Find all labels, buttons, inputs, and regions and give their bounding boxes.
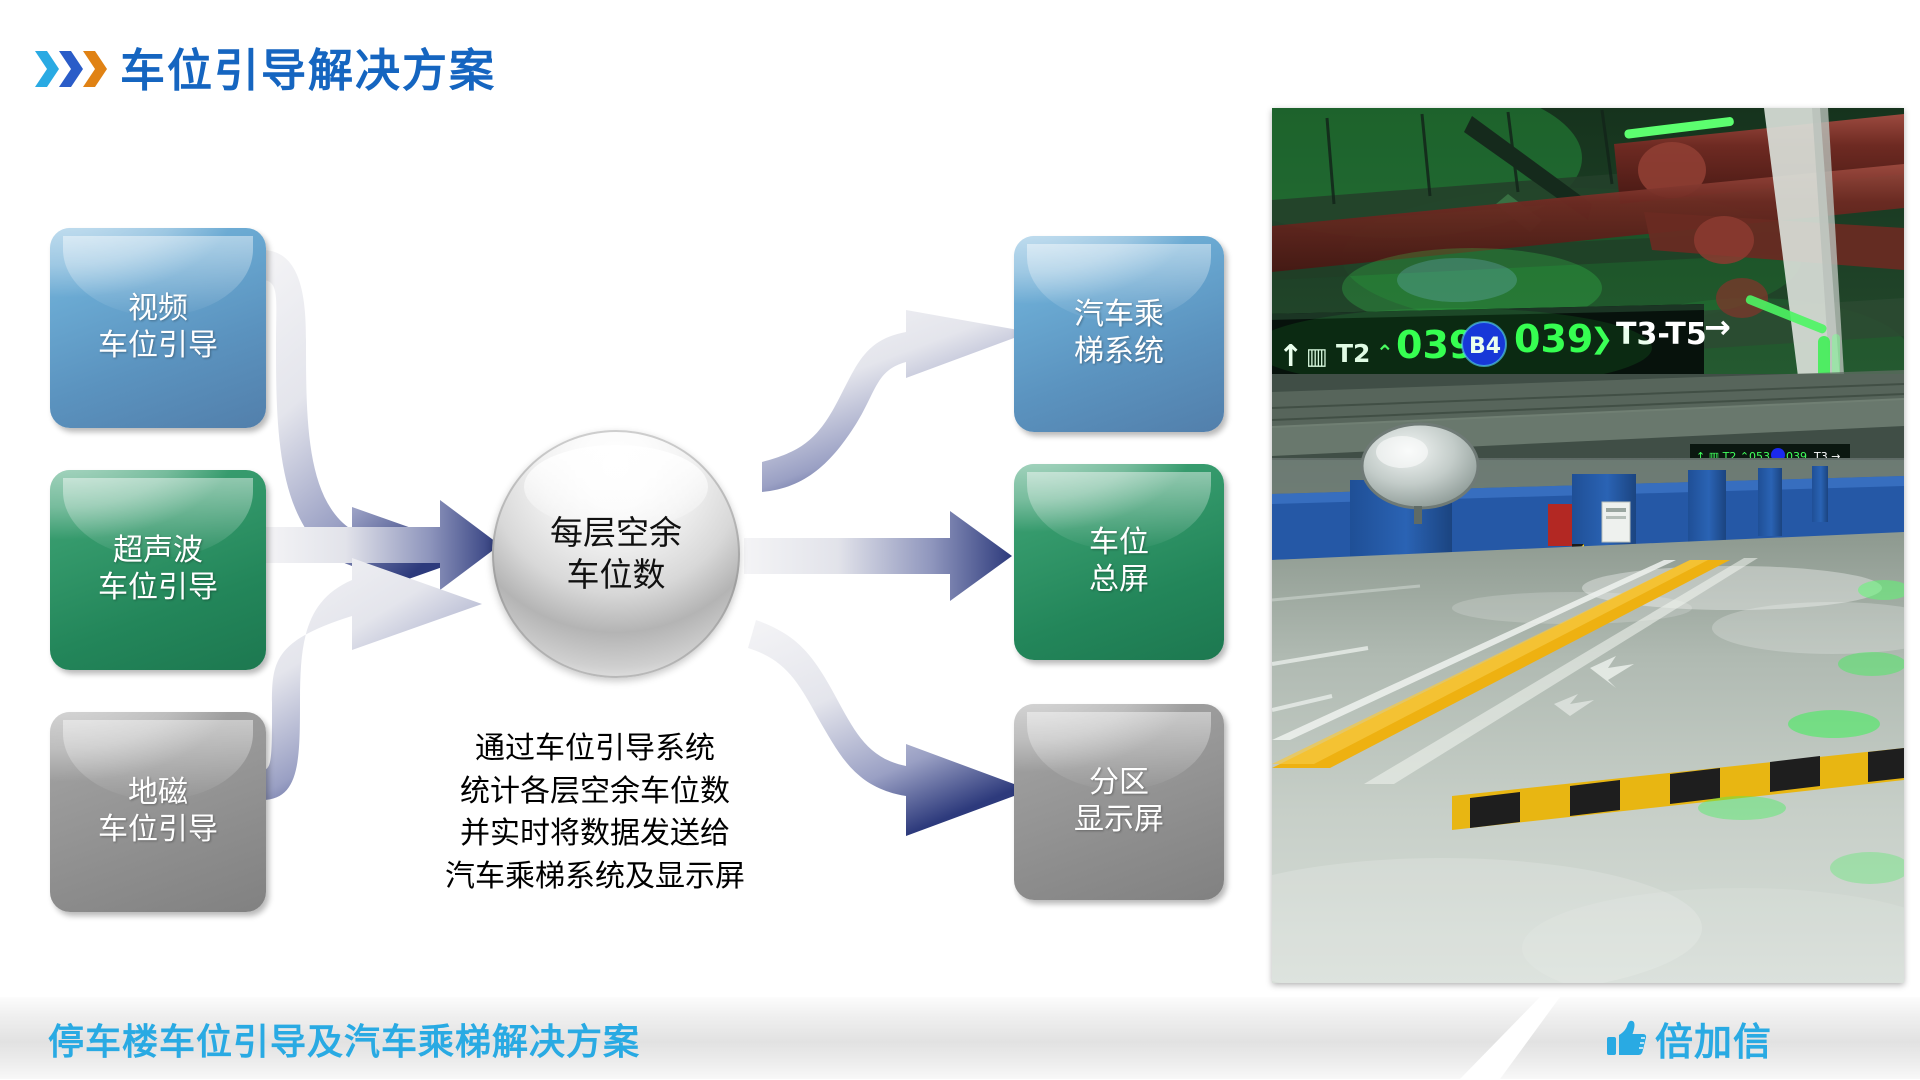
input-box-ultrasonic[interactable]: 超声波 车位引导 (50, 470, 266, 670)
brand-logo[interactable]: 倍加信 (1605, 1011, 1772, 1066)
slide-root: 车位引导解决方案 (0, 0, 1920, 1080)
output-box-total-screen[interactable]: 车位 总屏 (1014, 464, 1224, 660)
input-box-video-label: 视频 车位引导 (50, 228, 266, 428)
thumbs-up-icon (1605, 1017, 1649, 1061)
arrow-video-to-hub (262, 250, 482, 599)
slide-header: 车位引导解决方案 (0, 0, 1920, 120)
brand-name: 倍加信 (1655, 1011, 1772, 1066)
input-box-geomagnetic[interactable]: 地磁 车位引导 (50, 712, 266, 912)
slide-footer: 停车楼车位引导及汽车乘梯解决方案 倍加信 (0, 995, 1920, 1080)
svg-text:→: → (1704, 308, 1731, 346)
page-title: 车位引导解决方案 (120, 34, 496, 99)
output-box-zone-display-label: 分区 显示屏 (1014, 704, 1224, 900)
chevron-triple-icon (33, 48, 111, 90)
output-box-car-elevator[interactable]: 汽车乘 梯系统 (1014, 236, 1224, 432)
input-box-video[interactable]: 视频 车位引导 (50, 228, 266, 428)
arrow-hub-to-total-screen (744, 511, 1012, 601)
diagram-note: 通过车位引导系统 统计各层空余车位数 并实时将数据发送给 汽车乘梯系统及显示屏 (365, 728, 825, 898)
output-box-zone-display[interactable]: 分区 显示屏 (1014, 704, 1224, 900)
hub-sphere[interactable]: 每层空余 车位数 (492, 430, 740, 678)
arrow-hub-to-elevator (762, 310, 1030, 492)
parking-garage-photo: ↑ ▥ T2 ⌃ 039 B4 039 ❯ T3-T5 → (1272, 108, 1904, 983)
output-box-total-screen-label: 车位 总屏 (1014, 464, 1224, 660)
input-box-geomagnetic-label: 地磁 车位引导 (50, 712, 266, 912)
arrow-ultrasonic-to-hub (262, 500, 500, 590)
hub-sphere-label: 每层空余 车位数 (492, 430, 740, 678)
footer-title: 停车楼车位引导及汽车乘梯解决方案 (48, 1013, 640, 1065)
output-box-car-elevator-label: 汽车乘 梯系统 (1014, 236, 1224, 432)
input-box-ultrasonic-label: 超声波 车位引导 (50, 470, 266, 670)
parking-garage-illustration: ↑ ▥ T2 ⌃ 039 B4 039 ❯ T3-T5 → (1272, 108, 1904, 983)
